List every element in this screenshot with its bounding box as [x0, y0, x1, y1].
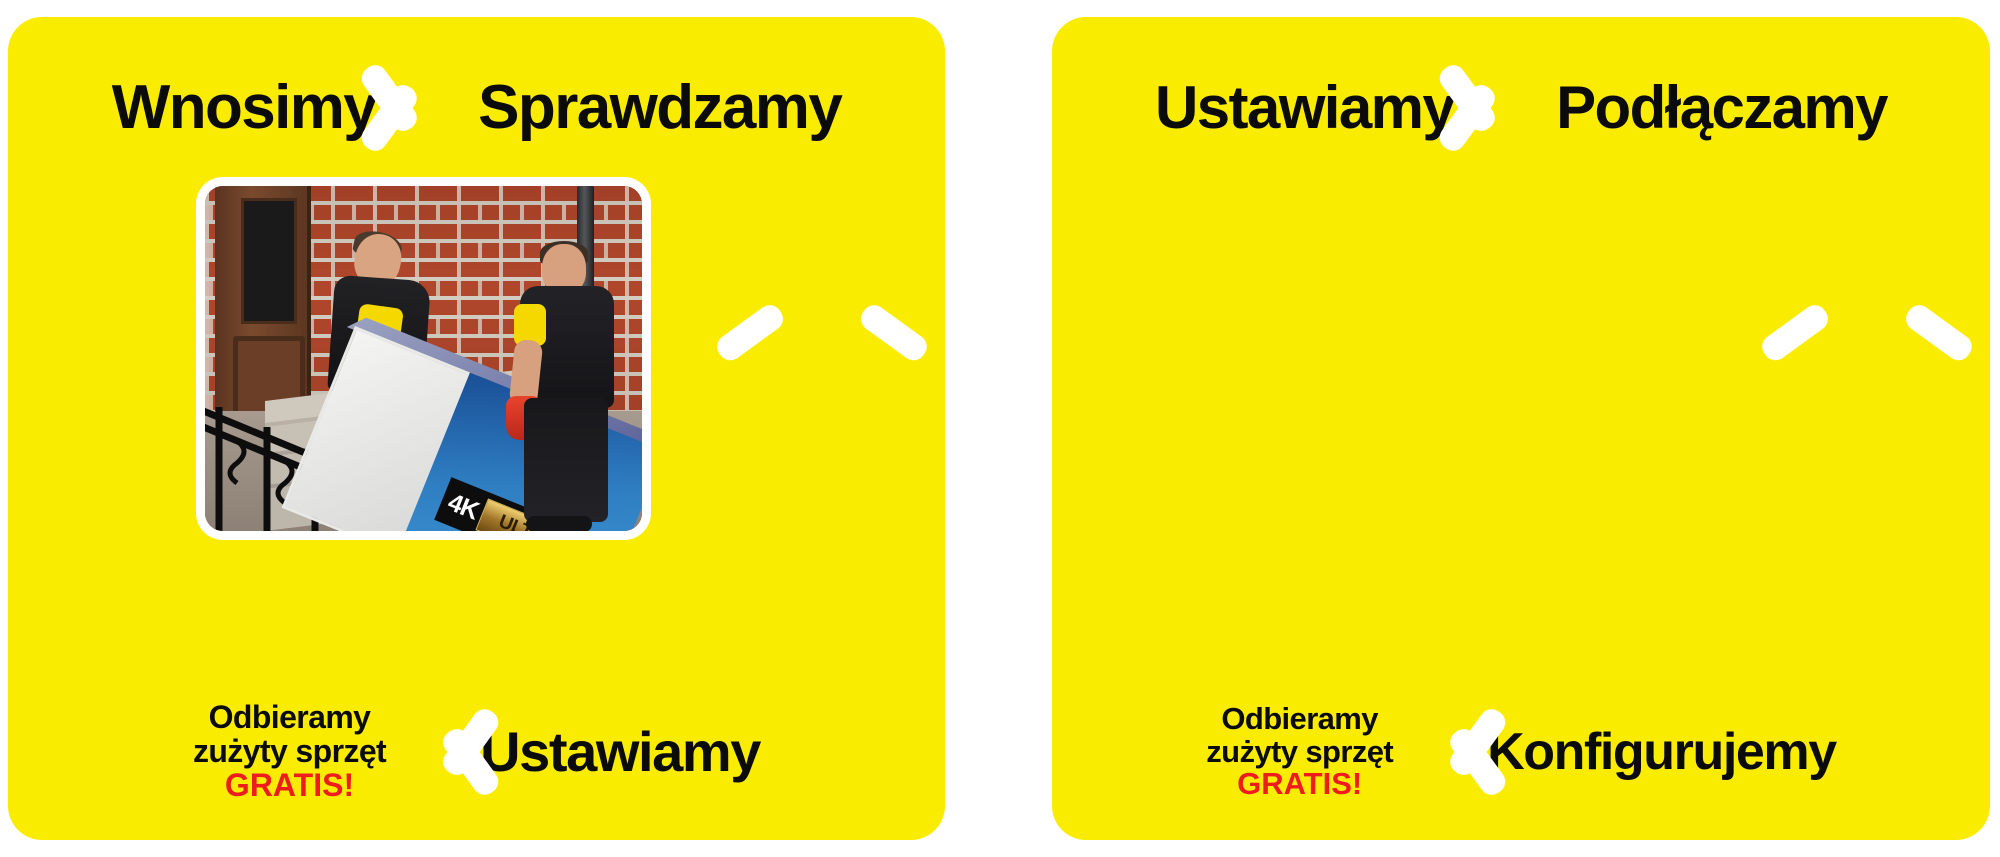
promo-banner: Wnosimy Sprawdzamy: [0, 0, 2000, 857]
resolution-badge-4k: 4K: [445, 489, 482, 523]
bottom-step-row-right: Odbieramy zużyty sprzęt GRATIS! Konfigur…: [1052, 698, 1990, 806]
step-label-konfigurujemy: Konfigurujemy: [1487, 726, 1836, 778]
chevron-down-icon: [767, 313, 877, 385]
chevron-right-icon: [390, 54, 464, 162]
bottom-step-row-left: Odbieramy zużyty sprzęt GRATIS! Ustawiam…: [8, 698, 945, 806]
chevron-down-icon: [1812, 313, 1922, 385]
disposal-note-left: Odbieramy zużyty sprzęt GRATIS!: [193, 701, 386, 803]
door-grill: [241, 198, 297, 324]
top-step-row-right: Ustawiamy Podłączamy: [1052, 53, 1990, 163]
step-label-podlaczamy: Podłączamy: [1556, 78, 1887, 138]
worker-lower: [512, 244, 624, 524]
chevron-left-icon: [396, 698, 470, 806]
delivery-photo-scene: 4K ULTRA HD: [205, 186, 642, 531]
service-step-panel-left: Wnosimy Sprawdzamy: [8, 17, 945, 840]
worker-lower-pants: [524, 398, 608, 522]
disposal-note-gratis: GRATIS!: [193, 769, 386, 803]
delivery-photo: 4K ULTRA HD: [205, 186, 642, 531]
step-label-wnosimy: Wnosimy: [112, 77, 376, 139]
disposal-note-gratis: GRATIS!: [1206, 768, 1393, 801]
chevron-down-wrap-left: [767, 313, 877, 390]
chevron-down-wrap-right: [1812, 313, 1922, 390]
disposal-note-line1: Odbieramy: [193, 701, 386, 735]
disposal-note-line2: zużyty sprzęt: [193, 735, 386, 769]
worker-lower-shoe: [526, 516, 592, 531]
chevron-right-icon: [1468, 54, 1542, 162]
step-label-sprawdzamy: Sprawdzamy: [478, 77, 841, 139]
step-label-ustawiamy: Ustawiamy: [480, 724, 760, 780]
step-label-ustawiamy-top: Ustawiamy: [1155, 78, 1454, 138]
disposal-note-line2: zużyty sprzęt: [1206, 736, 1393, 769]
disposal-note-right: Odbieramy zużyty sprzęt GRATIS!: [1206, 703, 1393, 802]
service-step-panel-right: Ustawiamy Podłączamy rz swój kr: [1052, 17, 1990, 840]
top-step-row-left: Wnosimy Sprawdzamy: [8, 53, 945, 163]
chevron-left-icon: [1403, 698, 1477, 806]
disposal-note-line1: Odbieramy: [1206, 703, 1393, 736]
